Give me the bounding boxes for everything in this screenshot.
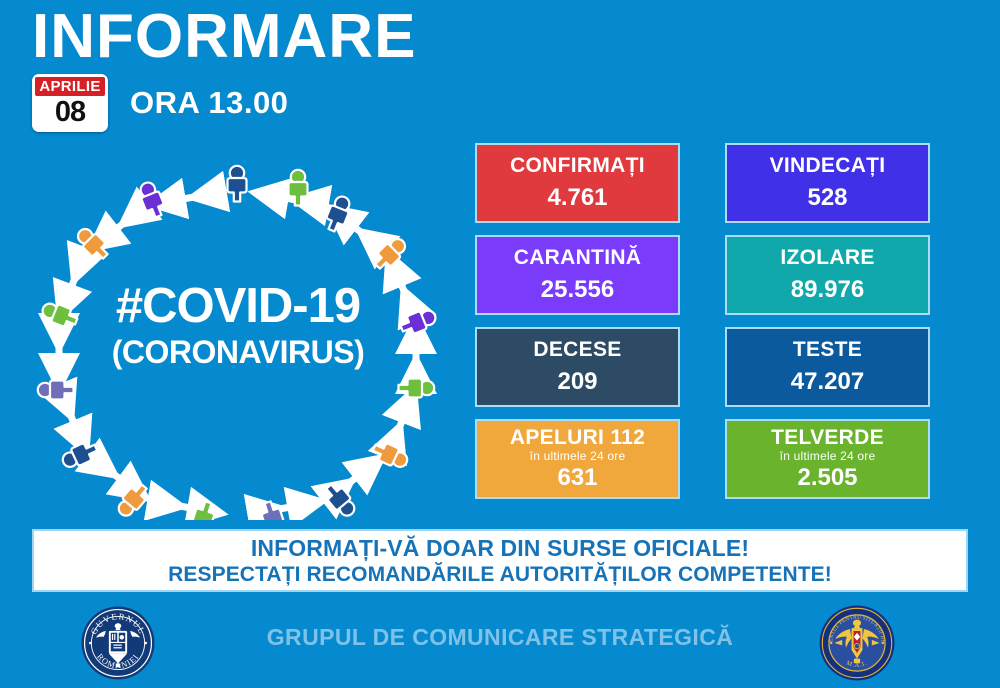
- stat-card-izolare[interactable]: IZOLARE 89.976: [725, 235, 930, 315]
- stat-card-vindecati[interactable]: VINDECAȚI 528: [725, 143, 930, 223]
- dsu-mai-seal-icon: DEPARTAMENTUL PENTRU SITUAȚII DE URGENȚĂ…: [818, 603, 896, 683]
- stats-grid: CONFIRMAȚI 4.761 VINDECAȚI 528 CARANTINĂ…: [475, 143, 935, 499]
- stat-value-telverde: 2.505: [797, 465, 857, 491]
- stat-label-izolare: IZOLARE: [780, 246, 874, 269]
- stat-card-decese[interactable]: DECESE 209: [475, 327, 680, 407]
- stat-value-apeluri-112: 631: [557, 465, 597, 491]
- stat-card-carantina[interactable]: CARANTINĂ 25.556: [475, 235, 680, 315]
- covid-circle-graphic: #COVID-19 (CORONAVIRUS): [18, 152, 458, 520]
- stat-label-carantina: CARANTINĂ: [514, 246, 642, 269]
- guvernul-romaniei-logo: GUVERNUL ROMÂNIEI: [80, 605, 156, 681]
- banner-line-1: INFORMAȚI-VĂ DOAR DIN SURSE OFICIALE!: [251, 535, 749, 562]
- stat-card-confirmati[interactable]: CONFIRMAȚI 4.761: [475, 143, 680, 223]
- stat-value-vindecati: 528: [807, 185, 847, 211]
- stat-label-telverde: TELVERDE: [771, 426, 884, 449]
- stat-note-telverde: în ultimele 24 ore: [780, 450, 876, 463]
- stat-card-telverde[interactable]: TELVERDE în ultimele 24 ore 2.505: [725, 419, 930, 499]
- calendar-day: 08: [35, 96, 105, 129]
- stat-label-teste: TESTE: [793, 338, 862, 361]
- calendar-month: APRILIE: [35, 77, 105, 96]
- stat-label-apeluri-112: APELURI 112: [510, 426, 645, 449]
- banner-line-2: RESPECTAȚI RECOMANDĂRILE AUTORITĂȚILOR C…: [168, 562, 832, 587]
- stat-label-decese: DECESE: [533, 338, 621, 361]
- arrow-ring: [59, 195, 416, 511]
- stat-value-izolare: 89.976: [791, 277, 864, 303]
- page-title: INFORMARE: [32, 4, 416, 69]
- calendar-icon: APRILIE 08: [32, 74, 108, 132]
- hour-label: ORA 13.00: [130, 85, 288, 121]
- circle-people-svg: [18, 152, 458, 520]
- stat-value-confirmati: 4.761: [547, 185, 607, 211]
- stat-card-teste[interactable]: TESTE 47.207: [725, 327, 930, 407]
- guvernul-romaniei-seal-icon: GUVERNUL ROMÂNIEI: [80, 605, 156, 681]
- stat-value-decese: 209: [557, 369, 597, 395]
- official-sources-banner: INFORMAȚI-VĂ DOAR DIN SURSE OFICIALE! RE…: [32, 529, 968, 592]
- departamentul-situatii-urgenta-logo: DEPARTAMENTUL PENTRU SITUAȚII DE URGENȚĂ…: [818, 603, 896, 683]
- stat-label-confirmati: CONFIRMAȚI: [510, 154, 645, 177]
- stat-note-apeluri-112: în ultimele 24 ore: [530, 450, 626, 463]
- poster-root: INFORMARE APRILIE 08 ORA 13.00: [0, 0, 1000, 688]
- stat-label-vindecati: VINDECAȚI: [770, 154, 886, 177]
- stat-value-teste: 47.207: [791, 369, 864, 395]
- people-ring: [38, 166, 439, 520]
- stat-card-apeluri-112[interactable]: APELURI 112 în ultimele 24 ore 631: [475, 419, 680, 499]
- date-bar: APRILIE 08 ORA 13.00: [32, 74, 288, 132]
- stat-value-carantina: 25.556: [541, 277, 614, 303]
